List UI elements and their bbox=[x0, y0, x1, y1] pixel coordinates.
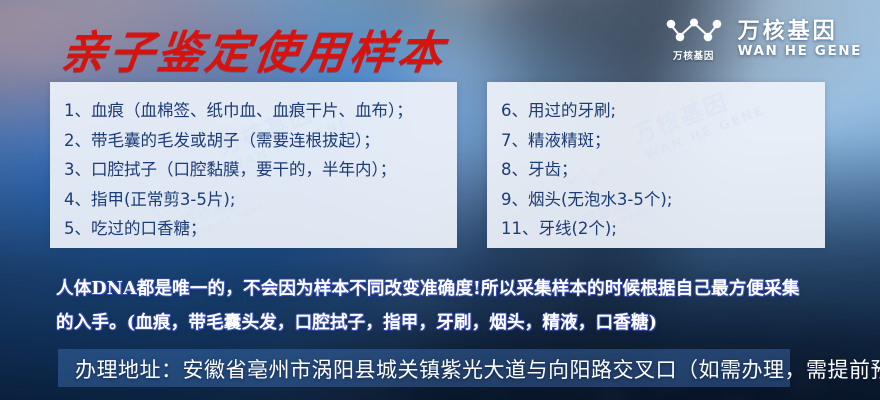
list-item: 5、吃过的口香糖； bbox=[64, 214, 457, 244]
list-item: 3、口腔拭子（口腔黏膜，要干的，半年内）； bbox=[64, 155, 457, 185]
logo-mark-label: 万核基因 bbox=[673, 48, 714, 62]
molecule-icon bbox=[663, 16, 725, 46]
sample-list-box-right: 万核基因 WAN HE GENE 万核基因 WAN HE GENE 6、用过的牙… bbox=[487, 82, 825, 248]
list-item: 9、烟头(无泡水3-5个); bbox=[501, 185, 825, 215]
sample-list-box-left: 万核基因 WAN HE GENE 万核基因 WAN HE GENE 1、血痕（血… bbox=[50, 82, 457, 248]
sample-list-left: 1、血痕（血棉签、纸巾血、血痕干片、血布）； 2、带毛囊的毛发或胡子（需要连根拔… bbox=[50, 82, 457, 244]
list-item: 2、带毛囊的毛发或胡子（需要连根拔起）； bbox=[64, 126, 457, 156]
page-title: 亲子鉴定使用样本 bbox=[58, 16, 450, 81]
brand-logo: 万核基因 万核基因 WAN HE GENE bbox=[663, 16, 862, 62]
list-item: 11、牙线(2个); bbox=[501, 214, 825, 244]
list-item: 4、指甲(正常剪3-5片); bbox=[64, 185, 457, 215]
note-line-2: 的入手。(血痕，带毛囊头发，口腔拭子，指甲，牙刷，烟头，精液，口香糖) bbox=[56, 306, 856, 340]
poster-root: 亲子鉴定使用样本 bbox=[0, 0, 880, 400]
logo-mark: 万核基因 bbox=[663, 16, 725, 62]
list-item: 8、牙齿； bbox=[501, 155, 825, 185]
note-line-1: 人体DNA都是唯一的，不会因为样本不同改变准确度!所以采集样本的时候根据自己最方… bbox=[56, 272, 856, 306]
note-paragraph: 人体DNA都是唯一的，不会因为样本不同改变准确度!所以采集样本的时候根据自己最方… bbox=[56, 272, 856, 340]
list-item: 6、用过的牙刷; bbox=[501, 96, 825, 126]
brand-name-en: WAN HE GENE bbox=[738, 44, 862, 58]
address-text: 办理地址：安徽省亳州市涡阳县城关镇紫光大道与向阳路交叉口（如需办理，需提前预 bbox=[75, 350, 880, 388]
brand-name-cn: 万核基因 bbox=[738, 20, 862, 43]
sample-list-right: 6、用过的牙刷; 7、精液精斑； 8、牙齿； 9、烟头(无泡水3-5个); 11… bbox=[487, 82, 825, 244]
logo-wordmark: 万核基因 WAN HE GENE bbox=[738, 20, 862, 58]
list-item: 7、精液精斑； bbox=[501, 126, 825, 156]
list-item: 1、血痕（血棉签、纸巾血、血痕干片、血布）； bbox=[64, 96, 457, 126]
